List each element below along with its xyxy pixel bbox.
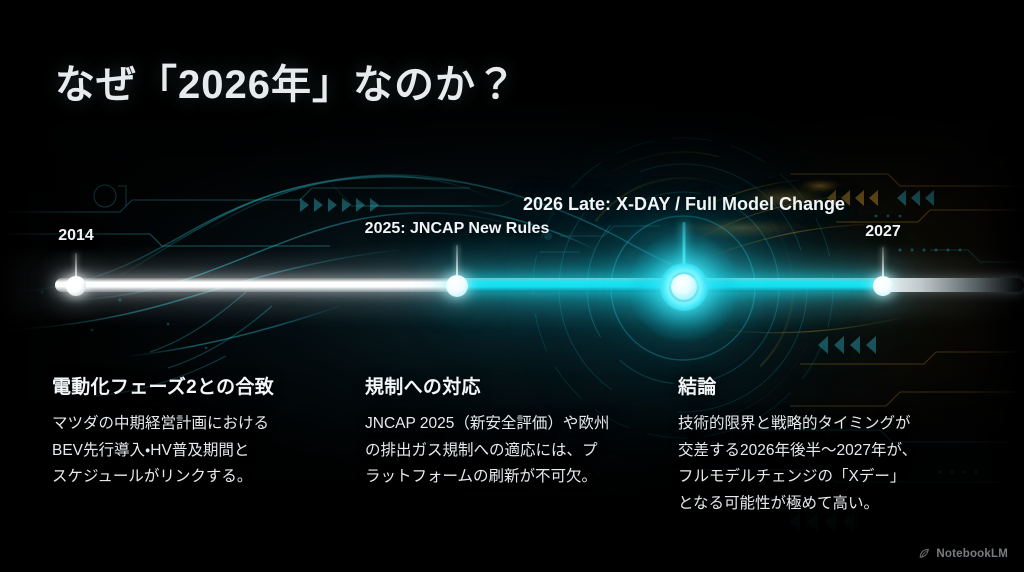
timeline-node-2027-label: 2027 [865,223,901,241]
detail-columns: 電動化フェーズ2との合致 マツダの中期経営計画における BEV先行導入・HV普及… [52,372,982,518]
detail-column-2-body: JNCAP 2025（新安全評価）や欧州 の排出ガス規制への適応には、プ ラット… [365,411,652,491]
detail-column-3-body: 技術的限界と戦略的タイミングが 交差する2026年後半〜2027年が、 フルモデ… [678,411,982,518]
notebooklm-logo-icon [918,547,931,560]
detail-column-3: 結論 技術的限界と戦略的タイミングが 交差する2026年後半〜2027年が、 フ… [678,372,982,518]
timeline-node-xday-marker [671,274,697,300]
timeline-node-2027[interactable]: 2027 [882,285,884,287]
timeline-node-xday[interactable]: 2026 Late: X-DAY / Full Model Change [683,286,685,288]
timeline-segment-past [55,278,459,292]
detail-column-1-heading: 電動化フェーズ2との合致 [52,372,339,399]
timeline-node-2014-label: 2014 [58,227,94,245]
timeline-node-2014-marker [66,276,86,296]
watermark-label: NotebookLM [936,548,1008,560]
timeline-node-2025-marker [446,275,468,297]
timeline-node-2014[interactable]: 2014 [75,285,77,287]
detail-column-1: 電動化フェーズ2との合致 マツダの中期経営計画における BEV先行導入・HV普及… [52,372,365,518]
watermark: NotebookLM [918,547,1008,560]
detail-column-2-heading: 規制への対応 [365,372,652,399]
timeline-node-2027-marker [873,276,893,296]
detail-column-3-heading: 結論 [678,372,982,399]
detail-column-2: 規制への対応 JNCAP 2025（新安全評価）や欧州 の排出ガス規制への適応に… [365,372,678,518]
timeline-node-2025-label: 2025: JNCAP New Rules [365,219,550,239]
timeline-segment-future [880,278,1024,292]
detail-column-1-body: マツダの中期経営計画における BEV先行導入・HV普及期間と スケジュールがリン… [52,411,339,491]
timeline-node-2025[interactable]: 2025: JNCAP New Rules [456,285,458,287]
slide-canvas: なぜ「2026年」なのか？ 2014 2025: JNCAP New Rules… [0,0,1024,572]
timeline-node-xday-label: 2026 Late: X-DAY / Full Model Change [523,193,845,216]
